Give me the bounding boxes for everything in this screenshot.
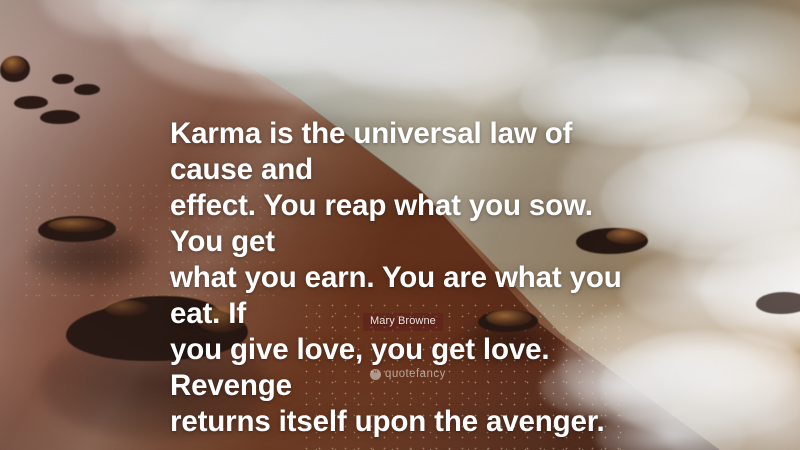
quote-line-5: returns itself upon the avenger. xyxy=(170,404,640,440)
quotefancy-watermark: “ quotefancy xyxy=(370,368,446,380)
quote-line-1: Karma is the universal law of cause and xyxy=(170,116,640,188)
quote-image: Karma is the universal law of cause and … xyxy=(0,0,800,450)
watermark-label: quotefancy xyxy=(385,368,446,380)
quote-mark-icon: “ xyxy=(370,369,381,380)
quote-author: Mary Browne xyxy=(363,313,443,331)
quote-block: Karma is the universal law of cause and … xyxy=(170,116,640,440)
quote-line-2: effect. You reap what you sow. You get xyxy=(170,188,640,260)
